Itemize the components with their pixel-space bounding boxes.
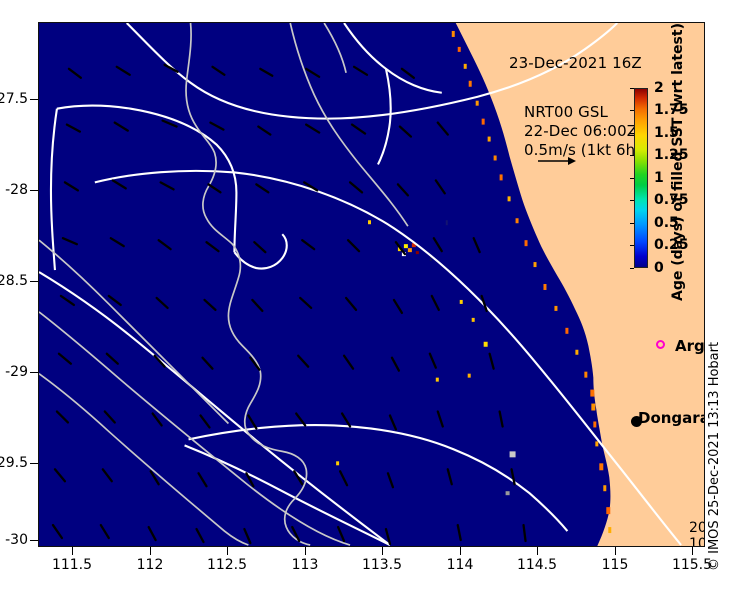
- colorbar-label-8: 2: [654, 80, 664, 96]
- y-tick-label-3: -29: [5, 364, 28, 380]
- colorbar-tick-7: [630, 110, 634, 111]
- vector-scale-arrow-icon: [537, 154, 577, 168]
- argo-marker-icon: [656, 340, 665, 349]
- y-tick-2: [30, 281, 38, 282]
- x-tick-8: [692, 547, 693, 555]
- colorbar-gradient: [634, 88, 648, 268]
- dongara-place-label: Dongara: [638, 409, 705, 427]
- colorbar-tick-5: [630, 155, 634, 156]
- depth-200-label: 200m: [689, 520, 705, 536]
- y-tick-0: [30, 99, 38, 100]
- depth-contour-legend: 200m 1000m: [689, 520, 705, 547]
- source-line-2: 22-Dec 06:00Z: [524, 122, 641, 141]
- colorbar[interactable]: 0 0.25 0.5 0.75 1 1.25 1.5 1.75 2: [634, 88, 648, 268]
- valid-time-label: 23-Dec-2021 16Z: [509, 54, 642, 72]
- colorbar-tick-6: [630, 133, 634, 134]
- colorbar-tick-4: [630, 178, 634, 179]
- figure-root: 23-Dec-2021 16Z NRT00 GSL 22-Dec 06:00Z …: [0, 0, 740, 592]
- x-tick-label-7: 115: [602, 557, 629, 573]
- y-tick-label-2: -28.5: [0, 273, 28, 289]
- y-tick-3: [30, 372, 38, 373]
- y-tick-4: [30, 463, 38, 464]
- argo-legend-label: Argo: [675, 337, 705, 355]
- copyright-label: © IMOS 25-Dec-2021 13:13 Hobart: [707, 342, 722, 571]
- y-tick-label-0: -27.5: [0, 91, 28, 107]
- colorbar-tick-2: [630, 223, 634, 224]
- y-tick-label-4: -29.5: [0, 455, 28, 471]
- map-plot-area[interactable]: 23-Dec-2021 16Z NRT00 GSL 22-Dec 06:00Z …: [38, 22, 705, 547]
- x-tick-6: [537, 547, 538, 555]
- x-tick-label-2: 112.5: [207, 557, 247, 573]
- x-tick-label-0: 111.5: [52, 557, 92, 573]
- x-tick-2: [227, 547, 228, 555]
- x-tick-1: [150, 547, 151, 555]
- colorbar-label-4: 1: [654, 170, 664, 186]
- map-canvas: [39, 23, 704, 546]
- colorbar-label-0: 0: [654, 260, 664, 276]
- colorbar-title: Age (days) of filled SST (wrt latest): [670, 23, 686, 301]
- colorbar-tick-8: [630, 88, 634, 89]
- x-tick-label-6: 114.5: [517, 557, 557, 573]
- model-source-block: NRT00 GSL 22-Dec 06:00Z 0.5m/s (1kt 6h): [524, 103, 641, 160]
- y-tick-label-5: -30: [5, 532, 28, 548]
- depth-1000-label: 1000m: [689, 536, 705, 547]
- x-tick-3: [305, 547, 306, 555]
- y-tick-label-1: -28: [5, 182, 28, 198]
- source-line-1: NRT00 GSL: [524, 103, 641, 122]
- x-tick-label-1: 112: [137, 557, 164, 573]
- x-tick-0: [72, 547, 73, 555]
- y-tick-5: [30, 540, 38, 541]
- x-tick-7: [615, 547, 616, 555]
- x-tick-4: [382, 547, 383, 555]
- colorbar-tick-3: [630, 200, 634, 201]
- y-tick-1: [30, 190, 38, 191]
- x-tick-label-4: 113.5: [362, 557, 402, 573]
- x-tick-label-3: 113: [292, 557, 319, 573]
- colorbar-tick-1: [630, 245, 634, 246]
- colorbar-tick-0: [630, 268, 634, 269]
- x-tick-label-5: 114: [447, 557, 474, 573]
- x-tick-5: [460, 547, 461, 555]
